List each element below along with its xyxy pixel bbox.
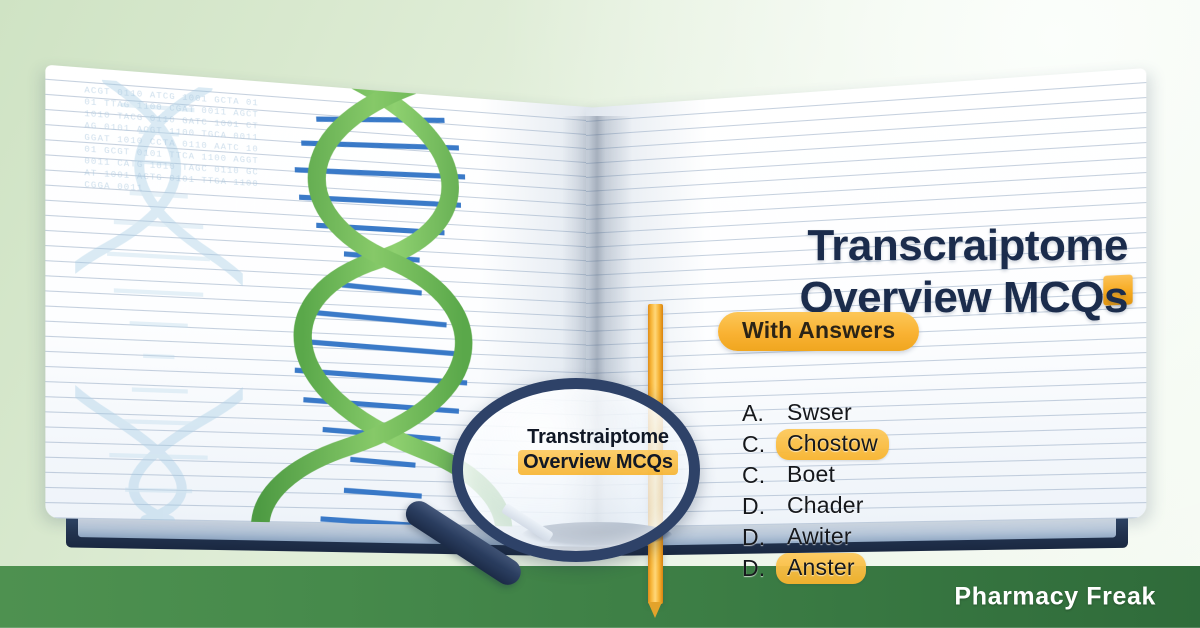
- list-item: C. Chostow: [742, 431, 1072, 458]
- answer-text: Chostow: [776, 429, 889, 460]
- answer-text: Swser: [776, 398, 863, 429]
- magnified-title: Transtraiptome Overview MCQs: [493, 425, 703, 475]
- answer-letter: C.: [742, 431, 776, 458]
- dna-watermark-icon: [75, 78, 243, 522]
- magnified-title-line-2: Overview MCQs: [518, 450, 678, 475]
- list-item: D. Chader: [742, 493, 1072, 520]
- list-item: D. Anster: [742, 555, 1072, 582]
- poster-canvas: ACGT 0110 ATCG 1001 GCTA 0101 TTAG 1100 …: [0, 0, 1200, 628]
- answer-text: Awiter: [776, 522, 863, 553]
- answer-list: A. Swser C. Chostow C. Boet D. Chader D.…: [742, 400, 1072, 586]
- list-item: C. Boet: [742, 462, 1072, 489]
- magnifier-lens: Transtraiptome Overview MCQs: [452, 378, 700, 562]
- genetic-code-characters: ACGT 0110 ATCG 1001 GCTA 0101 TTAG 1100 …: [84, 85, 262, 518]
- magnifying-glass-icon: Transtraiptome Overview MCQs: [430, 376, 680, 611]
- answer-letter: D.: [742, 524, 776, 551]
- list-item: A. Swser: [742, 400, 1072, 427]
- list-item: D. Awiter: [742, 524, 1072, 551]
- answer-letter: D.: [742, 555, 776, 582]
- with-answers-badge: With Answers: [718, 312, 919, 351]
- answer-text: Chader: [776, 491, 875, 522]
- title-line-1: Transcraiptome: [807, 221, 1128, 270]
- answer-letter: D.: [742, 493, 776, 520]
- brand-name: Pharmacy Freak: [954, 583, 1156, 612]
- answer-text: Boet: [776, 460, 846, 491]
- answer-text: Anster: [776, 553, 866, 584]
- magnified-title-line-1: Transtraiptome: [527, 426, 669, 448]
- answer-letter: A.: [742, 400, 776, 427]
- open-book: ACGT 0110 ATCG 1001 GCTA 0101 TTAG 1100 …: [62, 108, 1132, 558]
- page-title: Transcraiptome Overview MCQs: [658, 220, 1128, 324]
- answer-letter: C.: [742, 462, 776, 489]
